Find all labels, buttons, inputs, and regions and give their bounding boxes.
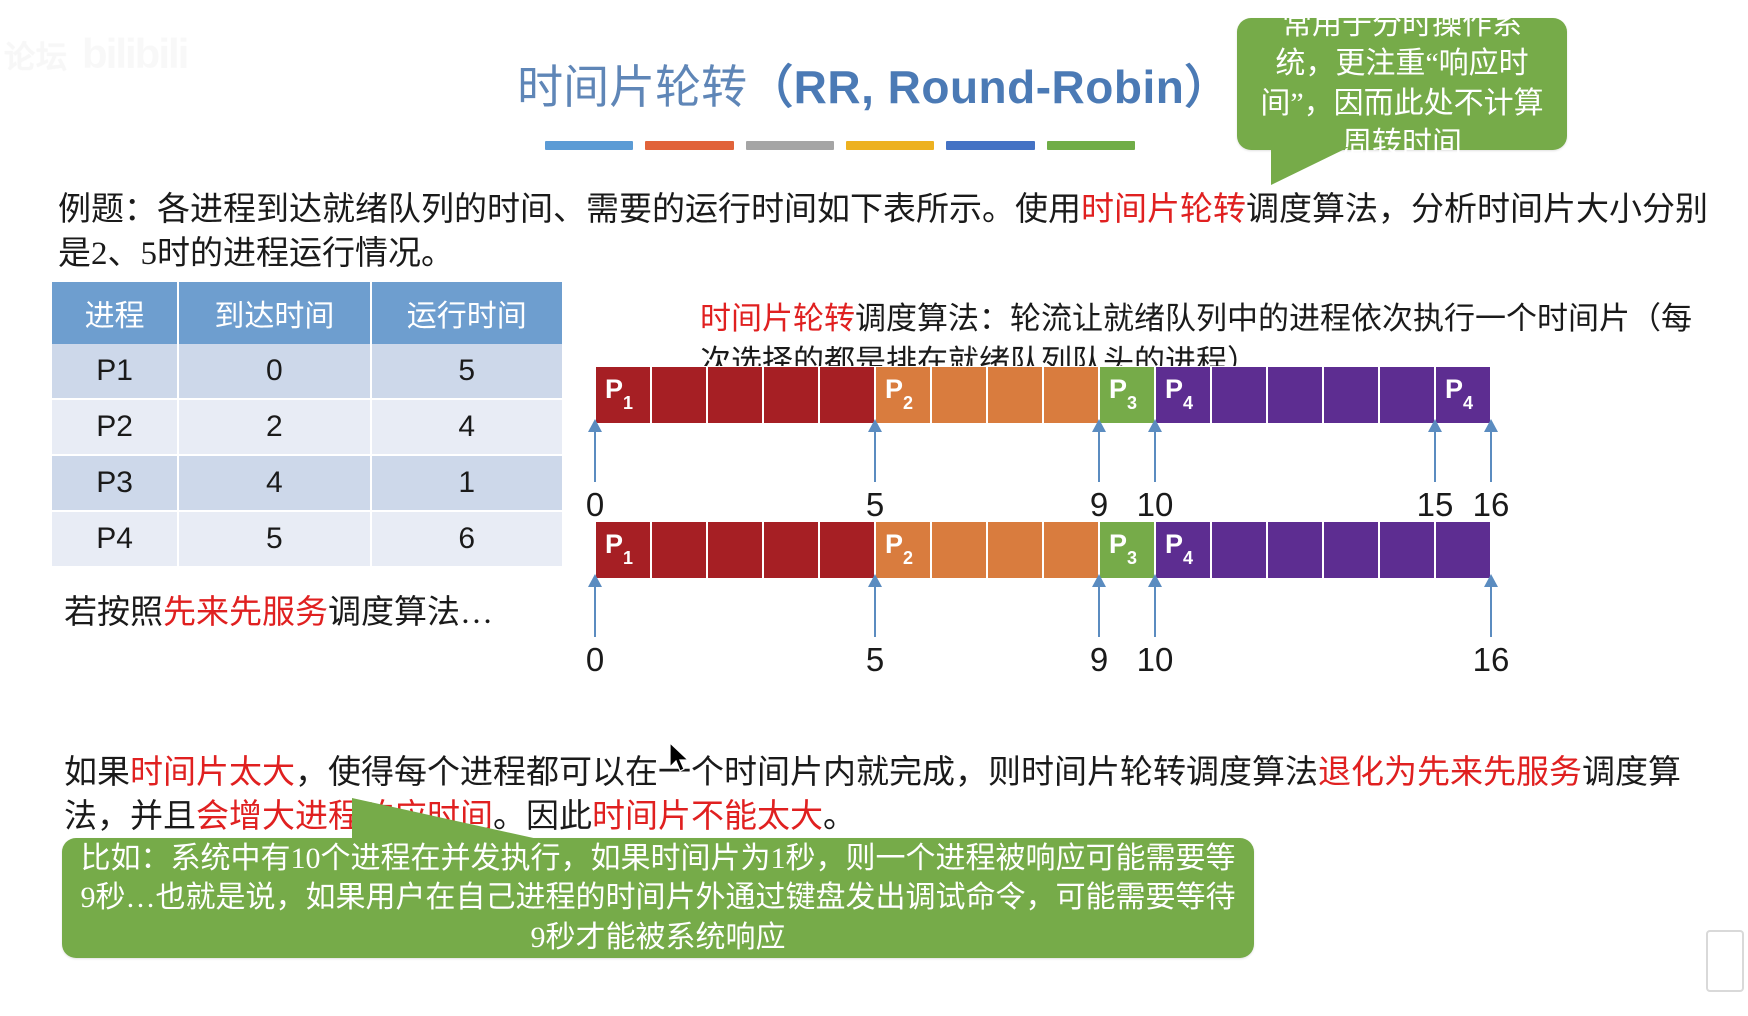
cell-burst: 6 [371,511,562,567]
gantt-slice-p2 [987,366,1043,424]
gantt-tick-9 [1098,585,1100,637]
cell-process: P3 [52,455,178,511]
page-title-cn: 时间片轮转 [517,62,747,113]
gantt-slice-p4 [1323,521,1379,579]
conclusion-paragraph: 如果时间片太大，使得每个进程都可以在一个时间片内就完成，则时间片轮转调度算法退化… [64,751,1714,839]
gantt-tick-label: 9 [1090,486,1108,524]
slide-canvas: 论坛 bilibili 时间片轮转（RR, Round-Robin） 常用于分时… [0,0,1748,1016]
title-rule-bar-3 [746,141,834,150]
gantt-slice-p2 [931,366,987,424]
gantt-slice-label: P4 [1445,374,1473,405]
gantt-slice-p2 [1043,521,1099,579]
title-rule-bar-5 [946,141,1034,150]
gantt-tick-9 [1098,430,1100,482]
gantt-tick-16 [1490,430,1492,482]
cell-process: P2 [52,399,178,455]
gantt-slice-p2 [987,521,1043,579]
callout-top-text: 常用于分时操作系统，更注重“响应时间”，因而此处不计算周转时间 [1237,0,1567,169]
fcfs-text-a: 若按照 [64,595,163,631]
callout-top-tail [1271,147,1349,185]
gantt-slice-p2 [931,521,987,579]
gantt-slice-p4 [1323,366,1379,424]
gantt-slice-p4 [1267,521,1323,579]
cell-process: P1 [52,344,178,399]
callout-bottom: 比如：系统中有10个进程在并发执行，如果时间片为1秒，则一个进程被响应可能需要等… [62,838,1254,958]
gantt-slice-p1 [707,521,763,579]
cell-arrival: 0 [178,344,370,399]
gantt-tick-5 [874,430,876,482]
gantt-slice-p2 [1043,366,1099,424]
cell-burst: 5 [371,344,562,399]
gantt-slice-label: P1 [605,374,633,405]
gantt-slice-p4 [1379,521,1435,579]
gantt-slice-p4: P4 [1155,366,1211,424]
table-row: P1 0 5 [52,344,562,399]
example-highlight: 时间片轮转 [1081,192,1246,228]
gantt-slice-p4 [1267,366,1323,424]
title-underline-bars [545,141,1135,150]
gantt-slice-p1: P1 [595,366,651,424]
cell-arrival: 5 [178,511,370,567]
gantt-chart-q5: P1P2P3P40591016 [595,521,1495,671]
gantt-bar: P1P2P3P4P4 [595,366,1491,424]
gantt-tick-label: 16 [1473,641,1510,679]
rr-description-highlight: 时间片轮转 [700,301,855,336]
gantt-slice-label: P2 [885,374,913,405]
gantt-tick-16 [1490,585,1492,637]
cell-arrival: 4 [178,455,370,511]
process-table: 进程 到达时间 运行时间 P1 0 5 P2 2 4 P3 4 1 P4 [52,282,562,568]
fcfs-text-b: 调度算法… [328,595,493,631]
gantt-slice-p4: P4 [1155,521,1211,579]
gantt-slice-p3: P3 [1099,521,1155,579]
gantt-tick-0 [594,430,596,482]
gantt-axis: 059101516 [595,424,1491,504]
gantt-slice-p1 [819,366,875,424]
gantt-slice-p2: P2 [875,366,931,424]
gantt-tick-label: 5 [866,486,884,524]
fcfs-note: 若按照先来先服务调度算法… [64,591,624,635]
title-rule-bar-1 [545,141,633,150]
gantt-slice-p1 [651,521,707,579]
gantt-slice-p1 [651,366,707,424]
gantt-tick-5 [874,585,876,637]
fcfs-highlight: 先来先服务 [163,595,328,631]
gantt-slice-label: P2 [885,529,913,560]
table-header-arrival: 到达时间 [178,282,370,344]
gantt-slice-p1 [707,366,763,424]
gantt-slice-p2: P2 [875,521,931,579]
gantt-slice-label: P3 [1109,374,1137,405]
cell-burst: 4 [371,399,562,455]
gantt-slice-p4 [1211,521,1267,579]
gantt-slice-label: P1 [605,529,633,560]
gantt-slice-label: P4 [1165,374,1193,405]
cell-arrival: 2 [178,399,370,455]
cell-process: P4 [52,511,178,567]
gantt-tick-label: 16 [1473,486,1510,524]
concl-text-1: 如果 [64,755,130,791]
gantt-tick-label: 0 [586,641,604,679]
callout-top: 常用于分时操作系统，更注重“响应时间”，因而此处不计算周转时间 [1237,18,1567,150]
gantt-axis: 0591016 [595,579,1491,659]
table-row: P4 5 6 [52,511,562,567]
gantt-slice-label: P3 [1109,529,1137,560]
gantt-slice-p4: P4 [1435,366,1491,424]
example-text-a: 例题：各进程到达就绪队列的时间、需要的运行时间如下表所示。使用 [58,192,1081,228]
gantt-slice-p1 [763,366,819,424]
gantt-tick-label: 5 [866,641,884,679]
gantt-tick-label: 15 [1417,486,1454,524]
table-header-burst: 运行时间 [371,282,562,344]
gantt-tick-label: 9 [1090,641,1108,679]
gantt-tick-15 [1434,430,1436,482]
concl-text-2: ，使得每个进程都可以在一个时间片内就完成，则时间片轮转调度算法 [295,755,1318,791]
table-row: P3 4 1 [52,455,562,511]
gantt-tick-10 [1154,585,1156,637]
concl-text-5: 。 [823,799,856,835]
table-header-row: 进程 到达时间 运行时间 [52,282,562,344]
example-paragraph: 例题：各进程到达就绪队列的时间、需要的运行时间如下表所示。使用时间片轮转调度算法… [58,188,1708,276]
gantt-tick-label: 10 [1137,486,1174,524]
gantt-slice-p4 [1379,366,1435,424]
gantt-slice-p1 [763,521,819,579]
gantt-slice-p1: P1 [595,521,651,579]
title-rule-bar-2 [645,141,733,150]
gantt-slice-p4 [1435,521,1491,579]
gantt-bar: P1P2P3P4 [595,521,1491,579]
gantt-tick-0 [594,585,596,637]
concl-highlight-4: 时间片不能太大 [592,799,823,835]
concl-highlight-2: 退化为先来先服务 [1318,755,1582,791]
gantt-tick-label: 10 [1137,641,1174,679]
corner-artifact [1706,930,1744,992]
gantt-slice-label: P4 [1165,529,1193,560]
mouse-cursor-icon [669,742,691,774]
callout-bottom-text: 比如：系统中有10个进程在并发执行，如果时间片为1秒，则一个进程被响应可能需要等… [62,833,1254,964]
gantt-chart-q2: P1P2P3P4P4059101516 [595,366,1495,516]
callout-bottom-tail [352,798,538,839]
gantt-slice-p4 [1211,366,1267,424]
cell-burst: 1 [371,455,562,511]
concl-highlight-1: 时间片太大 [130,755,295,791]
table-row: P2 2 4 [52,399,562,455]
gantt-slice-p1 [819,521,875,579]
title-rule-bar-4 [846,141,934,150]
title-rule-bar-6 [1047,141,1135,150]
page-title-en: （RR, Round-Robin） [747,61,1231,113]
table-header-process: 进程 [52,282,178,344]
gantt-tick-10 [1154,430,1156,482]
gantt-tick-label: 0 [586,486,604,524]
gantt-slice-p3: P3 [1099,366,1155,424]
